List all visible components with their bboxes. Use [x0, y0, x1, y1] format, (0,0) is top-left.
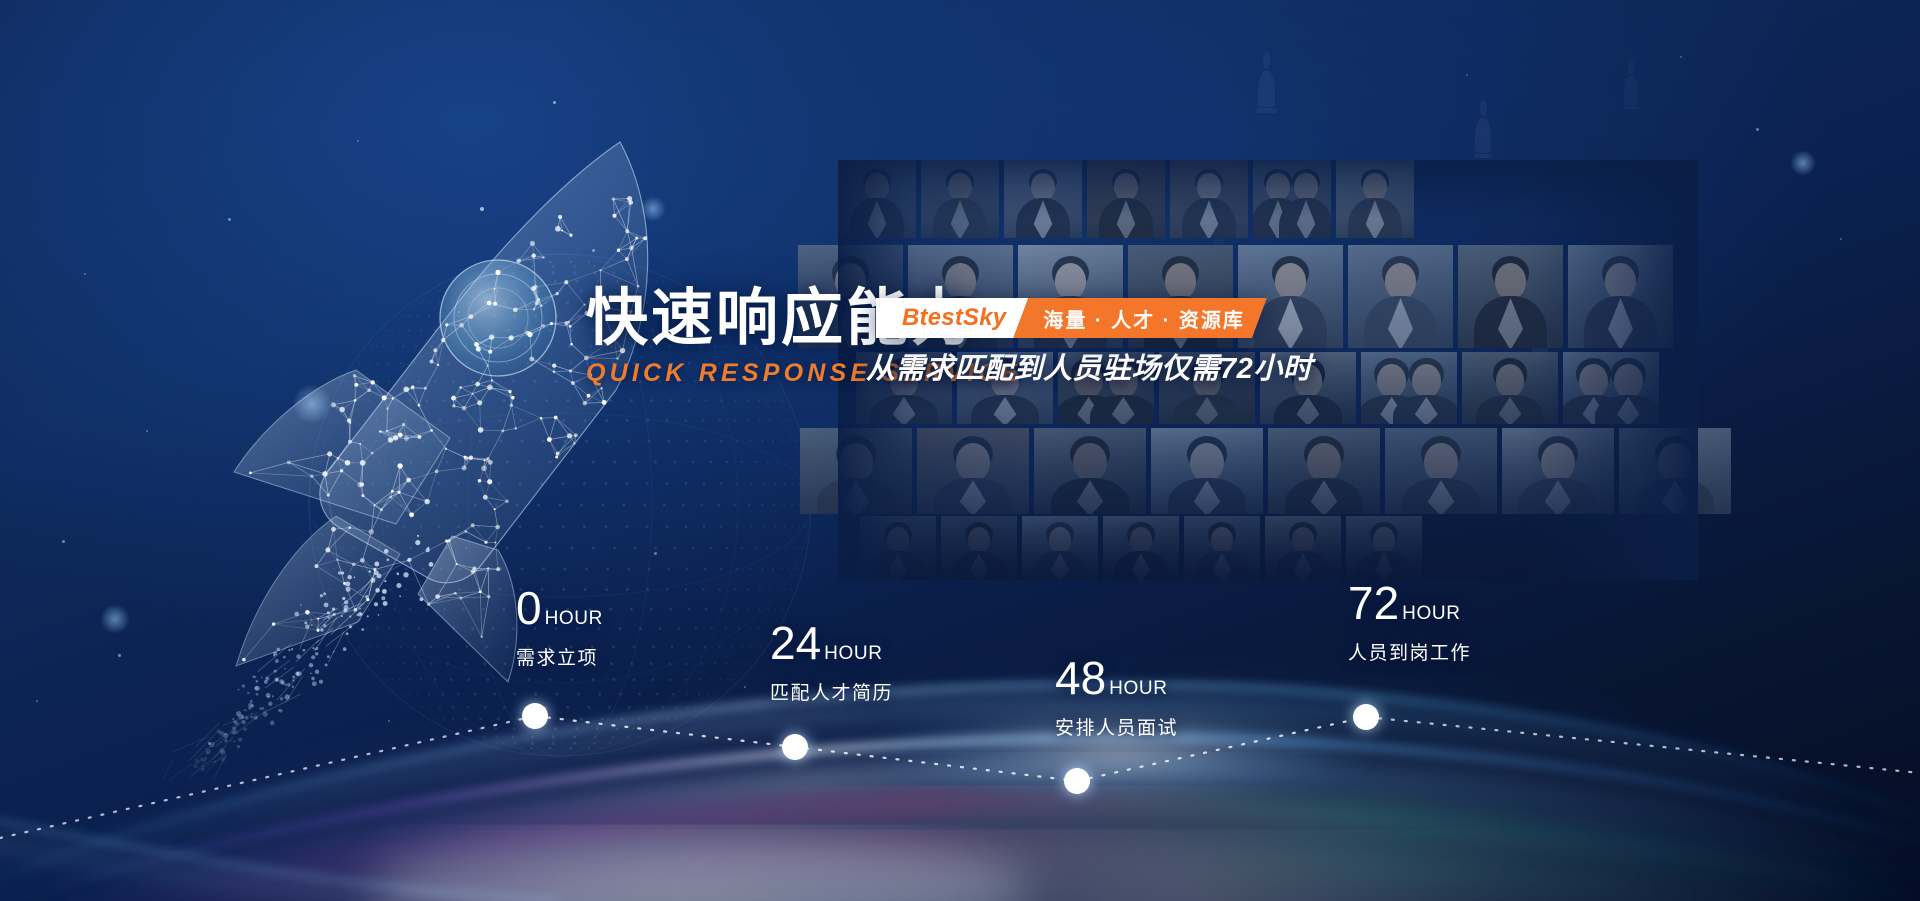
brand-badge: BtestSky 海量 · 人才 · 资源库	[876, 298, 1267, 338]
timeline-item-2[interactable]: 48 HOUR 安排人员面试	[1055, 655, 1178, 740]
timeline-label: 匹配人才简历	[770, 678, 893, 705]
brand-name: BtestSky	[902, 304, 1006, 332]
timeline-unit: HOUR	[824, 644, 882, 663]
timeline-unit: HOUR	[1109, 679, 1167, 698]
timeline-item-0[interactable]: 0 HOUR 需求立项	[516, 585, 603, 670]
timeline-number: 24	[770, 620, 821, 666]
timeline-dot-2[interactable]	[1064, 768, 1090, 794]
timeline-dot-1[interactable]	[782, 734, 808, 760]
brand-tag-chip: 海量 · 人才 · 资源库	[1013, 298, 1267, 338]
timeline-dot-3[interactable]	[1353, 704, 1379, 730]
brand-name-chip: BtestSky	[876, 298, 1028, 338]
timeline-number: 48	[1055, 655, 1106, 701]
timeline-unit: HOUR	[1402, 604, 1460, 623]
hero-banner: 快速响应能力 QUICK RESPONSE SERVICE BtestSky 海…	[0, 0, 1920, 901]
timeline-label: 需求立项	[516, 643, 603, 670]
tagline: 从需求匹配到人员驻场仅需72小时	[866, 345, 1312, 387]
timeline-item-3[interactable]: 72 HOUR 人员到岗工作	[1348, 580, 1471, 665]
timeline-dot-0[interactable]	[522, 703, 548, 729]
timeline-number: 0	[516, 585, 542, 631]
timeline-unit: HOUR	[545, 609, 603, 628]
timeline-item-1[interactable]: 24 HOUR 匹配人才简历	[770, 620, 893, 705]
process-timeline: 0 HOUR 需求立项 24 HOUR 匹配人才简历 48 HOUR 安排人员面…	[0, 0, 1920, 901]
timeline-label: 安排人员面试	[1055, 713, 1178, 740]
timeline-connector	[0, 0, 1920, 901]
timeline-number: 72	[1348, 580, 1399, 626]
timeline-label: 人员到岗工作	[1348, 638, 1471, 665]
brand-tag: 海量 · 人才 · 资源库	[1043, 304, 1245, 333]
